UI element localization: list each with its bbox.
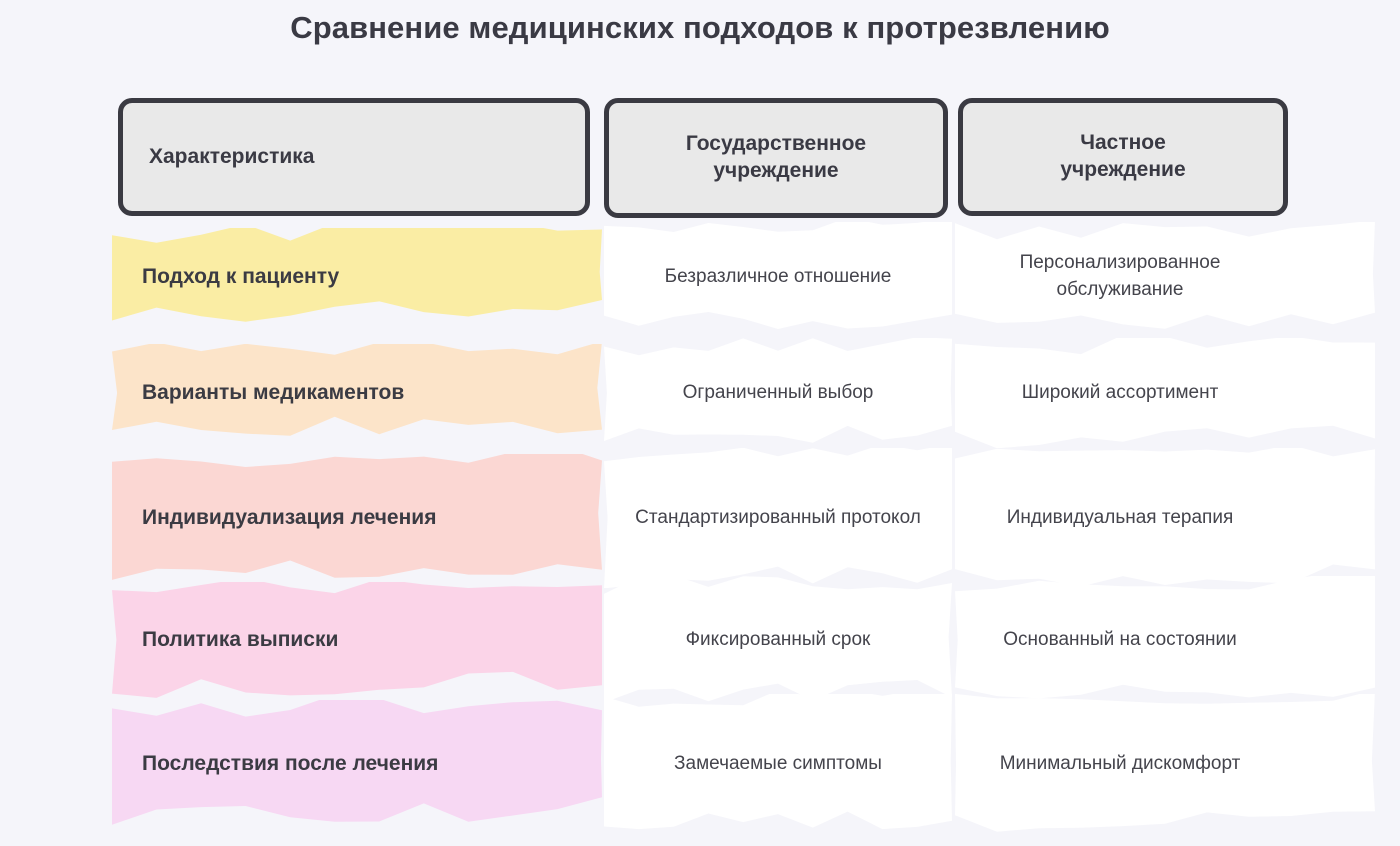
row-label-text: Варианты медикаментов <box>142 379 404 406</box>
header-private-line2: учреждение <box>1060 158 1185 181</box>
cell-government-text: Замечаемые симптомы <box>674 751 882 778</box>
cell-private-text: Индивидуальная терапия <box>1007 505 1234 532</box>
header-feature: Характеристика <box>118 98 590 216</box>
cell-private-text: Основанный на состоянии <box>1003 627 1237 654</box>
cell-government: Стандартизированный протокол <box>604 454 952 582</box>
row-label-text: Последствия после лечения <box>142 750 438 777</box>
header-feature-label: Характеристика <box>149 144 314 171</box>
cell-government-text: Безразличное отношение <box>665 264 892 291</box>
row-label: Варианты медикаментов <box>112 344 602 442</box>
page-title: Сравнение медицинских подходов к протрез… <box>0 10 1400 46</box>
cell-private: Минимальный дискомфорт <box>955 700 1285 828</box>
cell-private-text: Широкий ассортимент <box>1022 380 1219 407</box>
row-label-text: Индивидуализация лечения <box>142 504 436 531</box>
cell-private-text: Минимальный дискомфорт <box>1000 751 1241 778</box>
cell-private-text: Персонализированное обслуживание <box>967 250 1273 304</box>
header-column-private: Частное учреждение <box>958 98 1288 216</box>
cell-government: Замечаемые симптомы <box>604 700 952 828</box>
row-label: Индивидуализация лечения <box>112 454 602 582</box>
row-label-text: Подход к пациенту <box>142 263 339 290</box>
infographic-root: Сравнение медицинских подходов к протрез… <box>0 0 1400 846</box>
cell-private: Персонализированное обслуживание <box>955 228 1285 326</box>
row-label-text: Политика выписки <box>142 626 338 653</box>
row-label: Последствия после лечения <box>112 700 602 828</box>
cell-government-text: Стандартизированный протокол <box>635 505 921 532</box>
header-private-line1: Частное <box>1080 131 1166 154</box>
row-label: Подход к пациенту <box>112 228 602 326</box>
cell-government: Безразличное отношение <box>604 228 952 326</box>
header-government-text: Государственное учреждение <box>686 131 866 185</box>
header-government-line2: учреждение <box>713 159 838 182</box>
cell-government-text: Фиксированный срок <box>686 627 871 654</box>
cell-private: Основанный на состоянии <box>955 582 1285 698</box>
header-column-government: Государственное учреждение <box>604 98 948 218</box>
cell-government: Ограниченный выбор <box>604 344 952 442</box>
cell-private: Индивидуальная терапия <box>955 454 1285 582</box>
cell-private: Широкий ассортимент <box>955 344 1285 442</box>
header-government-line1: Государственное <box>686 132 866 155</box>
row-label: Политика выписки <box>112 582 602 698</box>
cell-government: Фиксированный срок <box>604 582 952 698</box>
cell-government-text: Ограниченный выбор <box>683 380 874 407</box>
header-private-text: Частное учреждение <box>1060 130 1185 184</box>
